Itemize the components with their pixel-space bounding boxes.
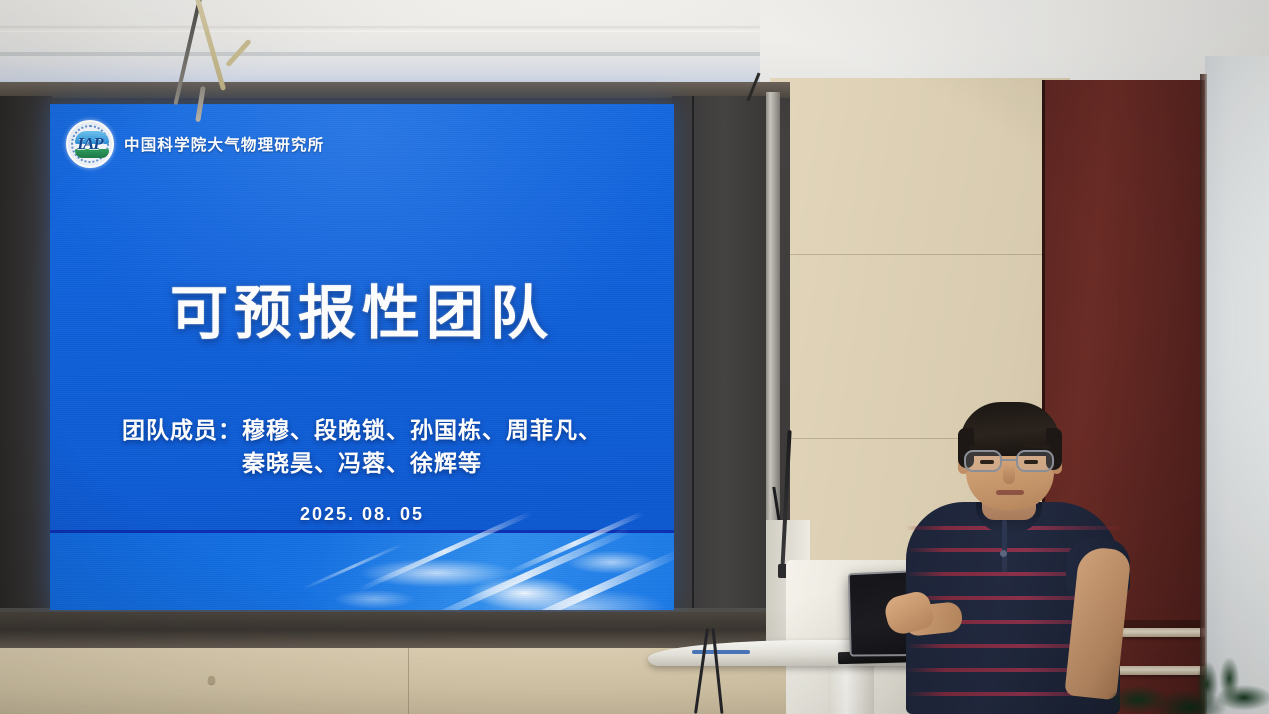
pillar-edge — [1200, 74, 1207, 714]
nose — [1003, 464, 1015, 484]
presentation-slide[interactable]: IAP 中国科学院大气物理研究所 可预报性团队 团队成员：穆穆、段晚锁、孙国栋、… — [50, 104, 674, 610]
eye-left — [980, 460, 994, 464]
slide-title: 可预报性团队 — [50, 266, 674, 350]
screen-bezel-left — [0, 96, 52, 620]
cabinet-knob[interactable] — [208, 676, 215, 684]
shirt-button — [1000, 550, 1007, 557]
organization-name: 中国科学院大气物理研究所 — [124, 133, 324, 155]
ceiling-right-section — [760, 0, 1269, 84]
team-members-block: 团队成员：穆穆、段晚锁、孙国栋、周菲凡、 秦晓昊、冯蓉、徐辉等 — [80, 414, 644, 481]
cabinet-top-shadow — [0, 612, 800, 652]
eye-right — [1024, 460, 1038, 464]
slide-header: IAP 中国科学院大气物理研究所 — [66, 120, 324, 168]
team-members-line-2: 秦晓昊、冯蓉、徐辉等 — [80, 447, 644, 480]
team-members-line-1: 团队成员：穆穆、段晚锁、孙国栋、周菲凡、 — [80, 414, 644, 447]
foliage-right — [1186, 640, 1256, 714]
screenshot-root: IAP 中国科学院大气物理研究所 可预报性团队 团队成员：穆穆、段晚锁、孙国栋、… — [0, 0, 1269, 714]
logo-monogram: IAP — [77, 134, 102, 154]
slide-cloud-footer-image — [50, 533, 674, 610]
shirt-placket — [1002, 520, 1007, 572]
podium-column — [828, 664, 874, 714]
screen-bezel-right — [672, 96, 768, 620]
presenter-figure — [900, 398, 1126, 714]
slide-date: 2025. 08. 05 — [50, 504, 674, 525]
wall-far-right — [1205, 56, 1269, 714]
mouth — [996, 490, 1024, 495]
institute-logo-icon: IAP — [66, 120, 114, 168]
podium-accent-stripe — [692, 650, 750, 654]
